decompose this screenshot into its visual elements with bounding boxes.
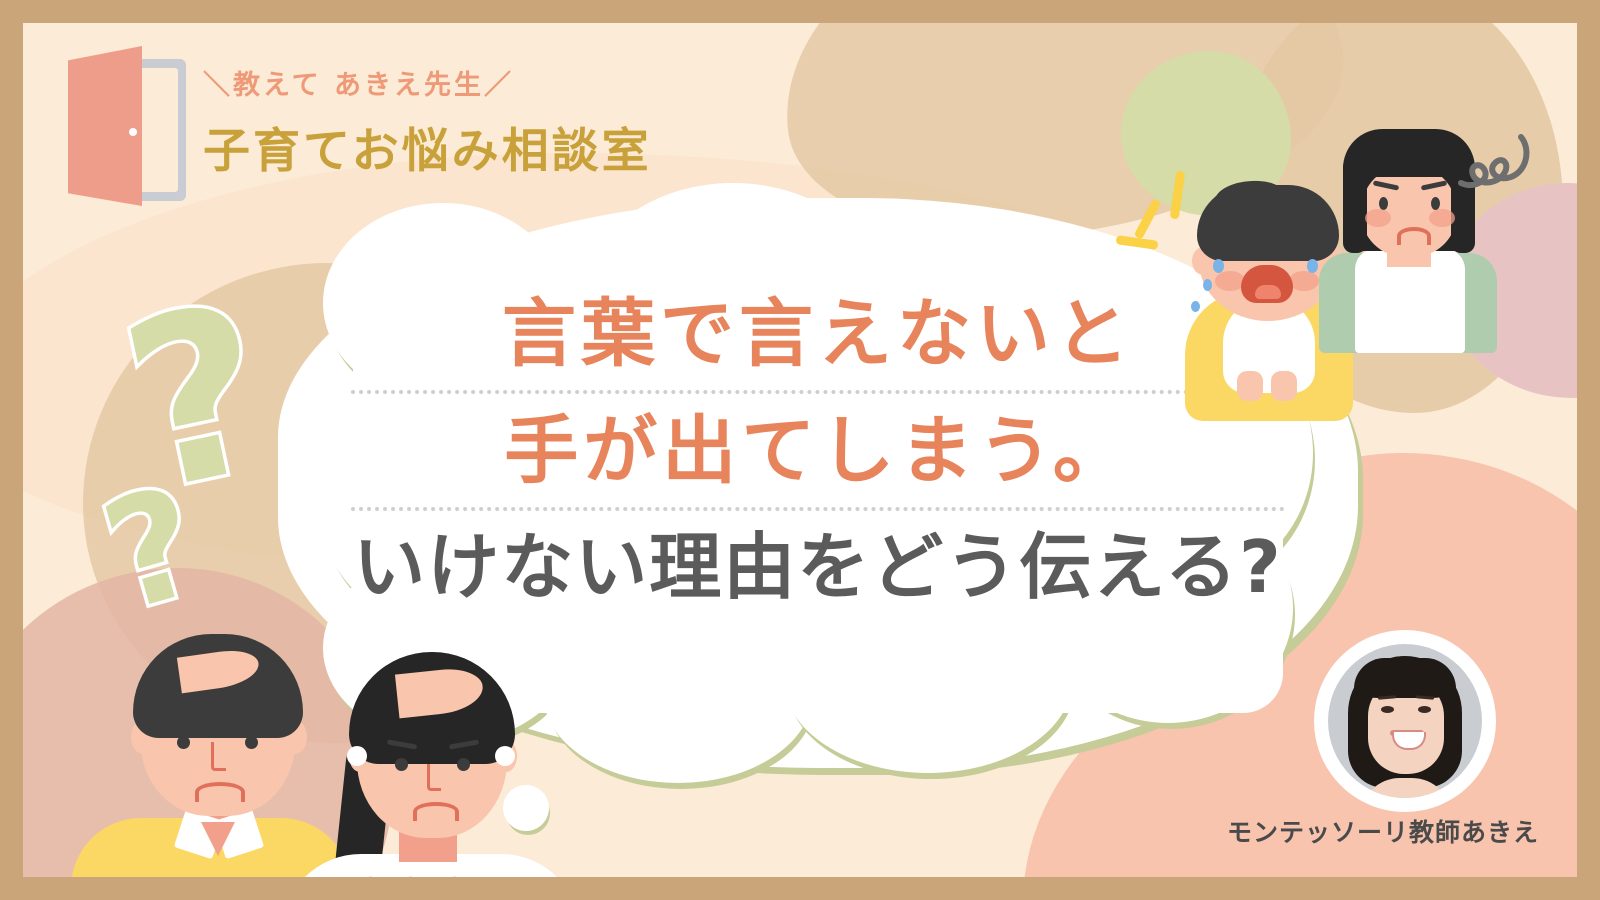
earring-icon	[347, 746, 367, 766]
worried-mother-bottom-illustration	[303, 618, 553, 877]
child-hand	[1271, 371, 1297, 401]
avatar-photo	[1328, 644, 1482, 798]
mother2-frown-mouth	[413, 802, 459, 821]
main-text-block: 言葉で言えないと 手が出てしまう。 いけない理由をどう伝える?	[323, 293, 1313, 607]
child-crying-mouth	[1241, 265, 1293, 303]
header: ＼教えて あきえ先生／ 子育てお悩み相談室	[203, 63, 652, 181]
avatar-fringe	[1354, 658, 1456, 698]
poster-inner: ＼教えて あきえ先生／ 子育てお悩み相談室 ? ? 言葉で言えないと	[23, 23, 1577, 877]
text-divider	[351, 390, 1285, 394]
headline-line-2: 手が出てしまう。	[323, 410, 1313, 493]
avatar[interactable]	[1321, 637, 1489, 805]
tear-drop-icon	[1203, 279, 1212, 291]
frustration-squiggle-icon	[1447, 127, 1533, 207]
child-hand	[1237, 371, 1263, 401]
father-nose	[211, 742, 226, 771]
child-eye-closed	[1223, 247, 1249, 261]
mother2-eye	[395, 758, 408, 771]
open-door-icon	[56, 46, 186, 206]
father-eye	[245, 736, 258, 749]
tear-drop-icon	[1213, 259, 1224, 273]
tear-drop-icon	[1307, 259, 1318, 273]
mother-eye	[1431, 197, 1440, 210]
credit-label: モンテッソーリ教師あきえ	[1213, 813, 1553, 849]
mother-cheek	[1365, 209, 1391, 227]
father-eye	[177, 736, 190, 749]
worried-father-illustration	[83, 608, 333, 877]
headline-line-3: いけない理由をどう伝える?	[323, 527, 1313, 608]
mother2-blouse-fold	[369, 876, 372, 877]
father-frown-mouth	[195, 782, 245, 802]
mother2-blouse-fold	[453, 876, 456, 877]
tear-drop-icon	[1191, 301, 1200, 312]
page-title: 子育てお悩み相談室	[203, 112, 652, 181]
mother-eye	[1379, 197, 1388, 210]
mother2-nose	[427, 764, 441, 791]
door-panel	[68, 46, 142, 206]
poster-canvas: ＼教えて あきえ先生／ 子育てお悩み相談室 ? ? 言葉で言えないと	[0, 0, 1600, 900]
earring-icon	[495, 746, 515, 766]
avatar-eye	[1418, 706, 1431, 713]
mother2-blouse-fold	[409, 876, 412, 877]
header-kicker: ＼教えて あきえ先生／	[203, 63, 652, 102]
mother-hair-side	[1343, 157, 1367, 253]
headline-line-1: 言葉で言えないと	[323, 293, 1313, 376]
child-cheek	[1289, 271, 1319, 291]
avatar-eye	[1381, 706, 1394, 713]
mother2-eye	[457, 758, 470, 771]
mother-cheek	[1429, 209, 1455, 227]
text-divider	[351, 507, 1285, 511]
door-knob-icon	[129, 128, 137, 136]
child-eye-closed	[1279, 247, 1305, 261]
mother-frown-mouth	[1397, 227, 1431, 245]
child-tongue	[1255, 285, 1281, 299]
